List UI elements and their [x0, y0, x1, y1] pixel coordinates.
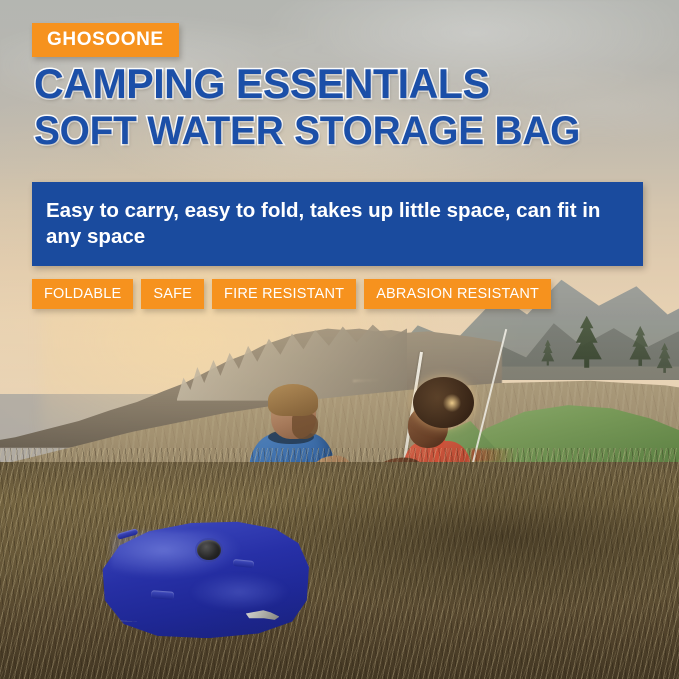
brand-badge: GHOSOONE — [32, 23, 179, 57]
headline-line-1: CAMPING ESSENTIALS — [34, 63, 642, 105]
description-text: Easy to carry, easy to fold, takes up li… — [32, 198, 643, 250]
hair-sun-glow — [443, 394, 460, 413]
headline-line-2: SOFT WATER STORAGE BAG — [34, 111, 635, 151]
description-box: Easy to carry, easy to fold, takes up li… — [32, 182, 643, 266]
product-poster: GHOSOONE CAMPING ESSENTIALS SOFT WATER S… — [0, 0, 679, 679]
feature-tag-abrasion-resistant: ABRASION RESISTANT — [364, 279, 551, 309]
water-storage-bag-product — [98, 519, 308, 638]
brand-name: GHOSOONE — [47, 29, 164, 51]
bag-handle — [151, 590, 175, 600]
feature-tag-fire-resistant: FIRE RESISTANT — [212, 279, 356, 309]
feature-tag-safe: SAFE — [141, 279, 204, 309]
feature-tag-row: FOLDABLE SAFE FIRE RESISTANT ABRASION RE… — [32, 279, 551, 309]
man-hair — [268, 384, 318, 417]
bag-highlight — [111, 531, 242, 579]
feature-tag-foldable: FOLDABLE — [32, 279, 133, 309]
headline-block: CAMPING ESSENTIALS SOFT WATER STORAGE BA… — [34, 63, 654, 151]
bag-fill-cap — [197, 540, 220, 560]
